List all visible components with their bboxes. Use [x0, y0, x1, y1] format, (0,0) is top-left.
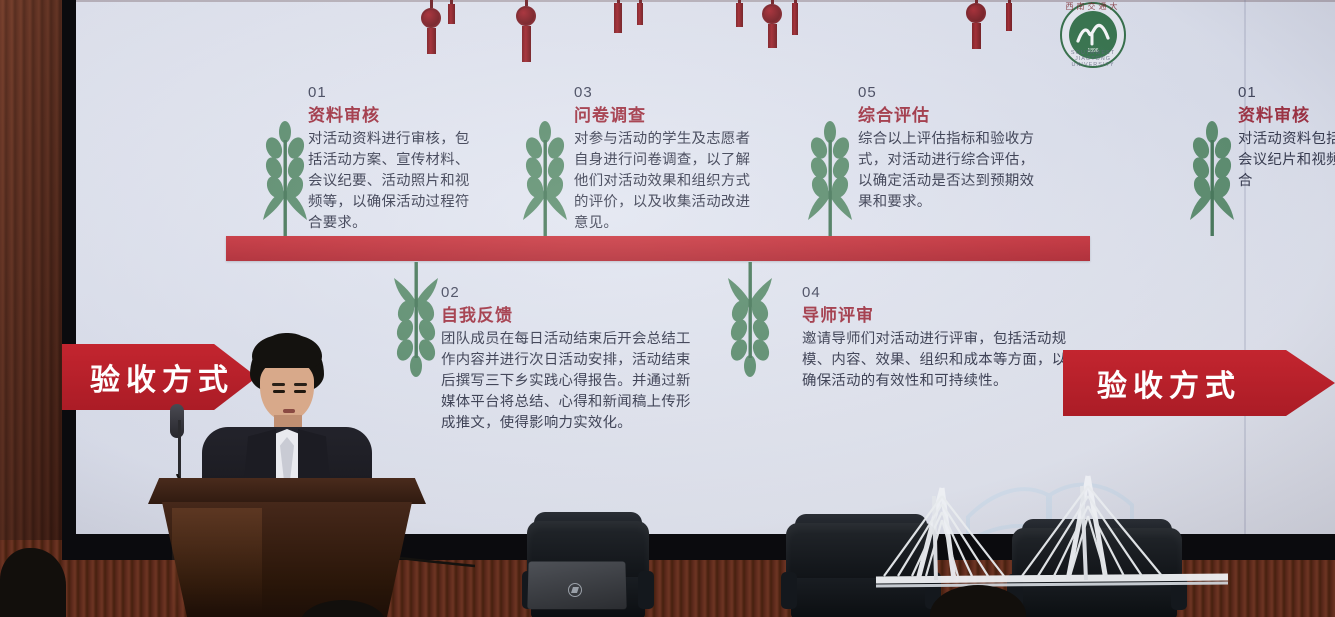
timeline-bar	[226, 236, 1090, 261]
item-number: 01	[1238, 85, 1335, 102]
item-title: 自我反馈	[441, 305, 703, 328]
item-body: 对参与活动的学生及志愿者自身进行问卷调查，以了解他们对活动效果和组织方式的评价，…	[574, 129, 764, 233]
tassel-icon	[792, 0, 798, 35]
section-banner-right: 验收方式	[1063, 350, 1335, 416]
item-title: 综合评估	[858, 105, 1048, 128]
banner-label: 验收方式	[1097, 361, 1241, 405]
podium	[148, 478, 426, 617]
logo-en-text: SOUTHWEST JIAOTONG UNIVERSITY	[1062, 50, 1124, 68]
timeline-item-03: 03 问卷调查 对参与活动的学生及志愿者自身进行问卷调查，以了解他们对活动效果和…	[574, 85, 764, 234]
timeline-item-01: 01 资料审核 对活动资料进行审核，包括活动方案、宣传材料、会议纪要、活动照片和…	[308, 85, 476, 234]
university-logo: 西南交通大学 1896 SOUTHWEST JIAOTONG UNIVERSIT…	[1060, 2, 1126, 68]
item-number: 01	[308, 85, 476, 102]
laptop	[524, 561, 628, 617]
item-title: 资料审核	[1238, 105, 1335, 128]
wheat-icon	[802, 116, 858, 236]
wheat-icon	[517, 116, 573, 236]
chinese-knot-icon	[421, 0, 441, 54]
item-body: 对活动资料包括活动方料、会议纪片和视频等动过程符合	[1238, 129, 1335, 192]
item-body: 综合以上评估指标和验收方式，对活动进行综合评估，以确定活动是否达到预期效果和要求…	[858, 129, 1048, 213]
tassel-icon	[1006, 0, 1012, 31]
item-title: 资料审核	[308, 105, 476, 128]
bridge-model	[872, 452, 1232, 617]
tassel-icon	[637, 0, 643, 25]
microphone-stem	[178, 420, 181, 478]
timeline-item-05: 05 综合评估 综合以上评估指标和验收方式，对活动进行综合评估，以确定活动是否达…	[858, 85, 1048, 213]
chinese-knot-icon	[966, 0, 986, 49]
slide-edge-divider	[1244, 0, 1246, 534]
presentation-room-photo: 西南交通大学 1896 SOUTHWEST JIAOTONG UNIVERSIT…	[0, 0, 1335, 617]
timeline-item-04: 04 导师评审 邀请导师们对活动进行评审，包括活动规模、内容、效果、组织和成本等…	[802, 285, 1068, 392]
item-number: 03	[574, 85, 764, 102]
decoration-rail	[76, 0, 1335, 2]
item-body: 对活动资料进行审核，包括活动方案、宣传材料、会议纪要、活动照片和视频等，以确保活…	[308, 129, 476, 233]
wall-panel-left	[0, 0, 62, 617]
item-body: 邀请导师们对活动进行评审，包括活动规模、内容、效果、组织和成本等方面，以确保活动…	[802, 329, 1068, 392]
item-number: 02	[441, 285, 703, 302]
item-title: 问卷调查	[574, 105, 764, 128]
item-number: 04	[802, 285, 1068, 302]
tassel-icon	[736, 0, 743, 27]
timeline-item-02: 02 自我反馈 团队成员在每日活动结束后开会总结工作内容并进行次日活动安排，活动…	[441, 285, 703, 434]
dell-logo-icon	[568, 583, 582, 597]
chinese-knot-icon	[516, 0, 536, 62]
item-number: 05	[858, 85, 1048, 102]
tassel-icon	[614, 0, 622, 33]
chinese-knot-icon	[762, 0, 782, 48]
wheat-icon	[388, 262, 444, 382]
wall-sheen	[0, 0, 62, 617]
wheat-icon	[1184, 116, 1240, 236]
wheat-icon	[722, 262, 778, 382]
audience-head	[0, 548, 66, 617]
microphone-icon	[170, 404, 184, 438]
tassel-icon	[448, 0, 455, 24]
wheat-icon	[257, 116, 313, 236]
timeline-item-01-clipped: 01 资料审核 对活动资料包括活动方料、会议纪片和视频等动过程符合	[1238, 85, 1335, 192]
item-body: 团队成员在每日活动结束后开会总结工作内容并进行次日活动安排，活动结束后撰写三下乡…	[441, 329, 703, 433]
item-title: 导师评审	[802, 305, 1068, 328]
